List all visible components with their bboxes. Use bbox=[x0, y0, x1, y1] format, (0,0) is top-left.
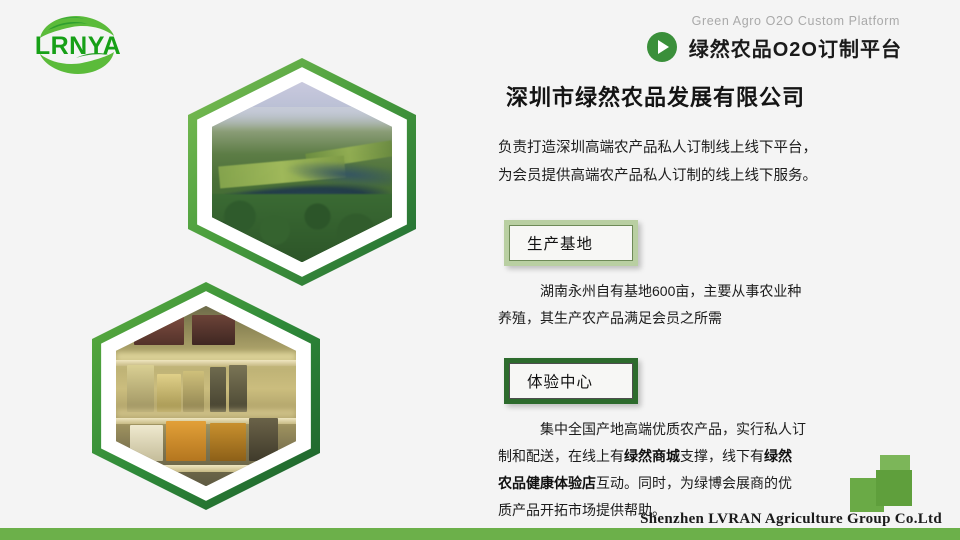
footer-company-name: Shenzhen LVRAN Agriculture Group Co.Ltd bbox=[640, 511, 942, 528]
footer-bar bbox=[0, 528, 960, 540]
shelf-product bbox=[210, 367, 226, 412]
shelf-product bbox=[192, 315, 235, 346]
company-logo: LRNYA bbox=[18, 8, 138, 82]
hexagon-frame-outer bbox=[188, 58, 416, 286]
shelf-product bbox=[157, 374, 180, 412]
body-line: 养殖，其生产农产品满足会员之所需 bbox=[498, 305, 916, 332]
platform-title-cn: 绿然农品O2O订制平台 bbox=[689, 33, 902, 62]
platform-header: Green Agro O2O Custom Platform 绿然农品O2O订制… bbox=[647, 14, 902, 62]
slide-canvas: LRNYA Green Agro O2O Custom Platform 绿然农… bbox=[0, 0, 960, 540]
svg-text:LRNYA: LRNYA bbox=[35, 32, 121, 60]
hexagon-frame-outer bbox=[92, 282, 320, 510]
intro-line: 为会员提供高端农产品私人订制的线上线下服务。 bbox=[498, 162, 916, 190]
hexagon-frame-inner bbox=[197, 67, 407, 277]
body-line: 制和配送，在线上有绿然商城支撑，线下有绿然 bbox=[498, 443, 916, 470]
intro-line: 负责打造深圳高端农产品私人订制线上线下平台， bbox=[498, 134, 916, 162]
hexagon-frame-inner bbox=[101, 291, 311, 501]
haze-layer bbox=[212, 107, 392, 132]
tree-canopy bbox=[212, 194, 392, 263]
shelf-product bbox=[229, 365, 247, 412]
shelf-product bbox=[166, 421, 206, 461]
play-circle-icon bbox=[647, 32, 677, 62]
body-line: 湖南永州自有基地600亩，主要从事农业种 bbox=[498, 278, 916, 305]
platform-title-en: Green Agro O2O Custom Platform bbox=[647, 14, 902, 28]
section-heading-production-base[interactable]: 生产基地 bbox=[504, 220, 638, 266]
shelf-board bbox=[116, 465, 296, 472]
section-production-base: 生产基地 湖南永州自有基地600亩，主要从事农业种 养殖，其生产农产品满足会员之… bbox=[496, 220, 916, 332]
page-title: 深圳市绿然农品发展有限公司 bbox=[506, 80, 916, 112]
shelf-product bbox=[210, 423, 246, 461]
landscape-image bbox=[212, 82, 392, 262]
production-base-photo bbox=[188, 58, 416, 286]
company-intro: 负责打造深圳高端农产品私人订制线上线下平台， 为会员提供高端农产品私人订制的线上… bbox=[498, 134, 916, 190]
shelf-product bbox=[134, 317, 185, 346]
experience-store-photo bbox=[92, 282, 320, 510]
shelf-product bbox=[127, 365, 154, 412]
section-heading-experience-center[interactable]: 体验中心 bbox=[504, 358, 638, 404]
store-shelf-image bbox=[116, 306, 296, 486]
section-body-production-base: 湖南永州自有基地600亩，主要从事农业种 养殖，其生产农产品满足会员之所需 bbox=[498, 278, 916, 332]
shelf-product bbox=[130, 425, 162, 461]
shelf-product bbox=[249, 418, 278, 461]
body-line: 集中全国产地高端优质农产品，实行私人订 bbox=[498, 416, 916, 443]
decor-square bbox=[876, 470, 912, 506]
content-panel: 深圳市绿然农品发展有限公司 负责打造深圳高端农产品私人订制线上线下平台， 为会员… bbox=[496, 80, 916, 524]
shelf-product bbox=[183, 371, 205, 412]
leaf-circle-icon: LRNYA bbox=[18, 8, 138, 82]
